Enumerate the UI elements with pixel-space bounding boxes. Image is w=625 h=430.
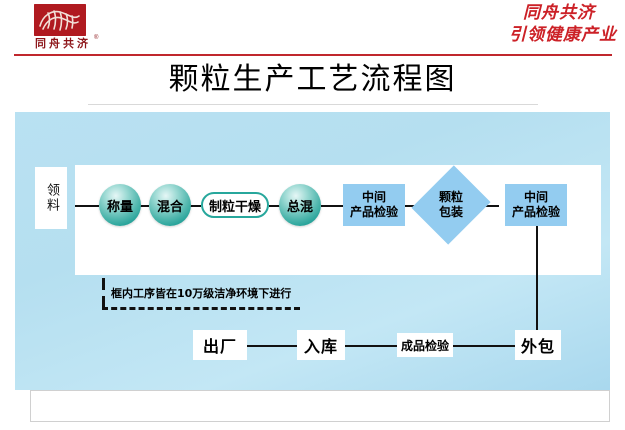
connector-jianyan2-waibao (536, 222, 538, 345)
node-zhiligan-label: 制粒干燥 (209, 196, 261, 215)
node-lingliao[interactable]: 领料 (35, 167, 67, 229)
node-jianyan-1-label-line2: 产品检验 (350, 205, 398, 220)
node-chengpin[interactable]: 成品检验 (397, 333, 453, 357)
connector-chengpin-waibao (453, 345, 515, 347)
node-waibao[interactable]: 外包 (515, 330, 561, 360)
cleanroom-dash-segment-top (102, 278, 105, 290)
node-zonghun[interactable]: 总混 (279, 184, 321, 226)
diagram-canvas: 领料 称量 混合 制粒干燥 总混 中间 产品检验 颗粒 包装 (15, 112, 610, 390)
title-underline (88, 104, 538, 105)
node-waibao-label: 外包 (521, 333, 555, 357)
node-zhiligan[interactable]: 制粒干燥 (201, 192, 269, 218)
node-hunhe-label: 混合 (157, 196, 183, 215)
connector-lingliao-chengliang (75, 205, 99, 207)
header-slogan: 同舟共济 引领健康产业 (442, 2, 617, 52)
slide-footer-box (30, 390, 610, 422)
slide-header: 同舟共济 ® 同舟共济 引领健康产业 (0, 0, 625, 56)
node-jianyan-1-label-line1: 中间 (350, 190, 398, 205)
node-baozhuang-label-line2: 包装 (439, 205, 463, 220)
slide-page: 同舟共济 ® 同舟共济 引领健康产业 颗粒生产工艺流程图 领料 (0, 0, 625, 430)
slogan-line-2: 引领健康产业 (442, 24, 617, 46)
header-divider (14, 54, 612, 56)
node-chengliang-label: 称量 (107, 196, 133, 215)
node-chengliang[interactable]: 称量 (99, 184, 141, 226)
node-lingliao-label: 领料 (43, 183, 59, 213)
node-hunhe[interactable]: 混合 (149, 184, 191, 226)
cleanroom-dash-bottom (102, 307, 300, 310)
page-title: 颗粒生产工艺流程图 (0, 62, 625, 98)
node-chengpin-label: 成品检验 (401, 337, 449, 354)
connector-chuchang-ruku (247, 345, 297, 347)
registered-mark-icon: ® (94, 35, 98, 41)
node-baozhuang-label: 颗粒 包装 (425, 175, 477, 235)
logo-wordmark: 同舟共济 (24, 38, 102, 50)
node-baozhuang-label-line1: 颗粒 (439, 190, 463, 205)
cleanroom-annotation: 框内工序皆在10万级洁净环境下进行 (111, 285, 291, 301)
node-chuchang-label: 出厂 (203, 333, 237, 357)
slogan-line-1: 同舟共济 (442, 2, 617, 24)
node-chuchang[interactable]: 出厂 (193, 330, 247, 360)
node-zonghun-label: 总混 (287, 196, 313, 215)
logo-mark-icon (34, 4, 86, 36)
node-ruku-label: 入库 (304, 333, 338, 357)
connector-zonghun-jianyan1 (321, 205, 343, 207)
node-ruku[interactable]: 入库 (297, 330, 345, 360)
node-jianyan-2-label-line2: 产品检验 (512, 205, 560, 220)
company-logo: 同舟共济 ® (14, 3, 106, 55)
node-baozhuang[interactable]: 颗粒 包装 (425, 175, 477, 235)
node-jianyan-1[interactable]: 中间 产品检验 (343, 184, 405, 226)
node-jianyan-2[interactable]: 中间 产品检验 (505, 184, 567, 226)
connector-ruku-chengpin (345, 345, 397, 347)
node-jianyan-2-label-line1: 中间 (512, 190, 560, 205)
